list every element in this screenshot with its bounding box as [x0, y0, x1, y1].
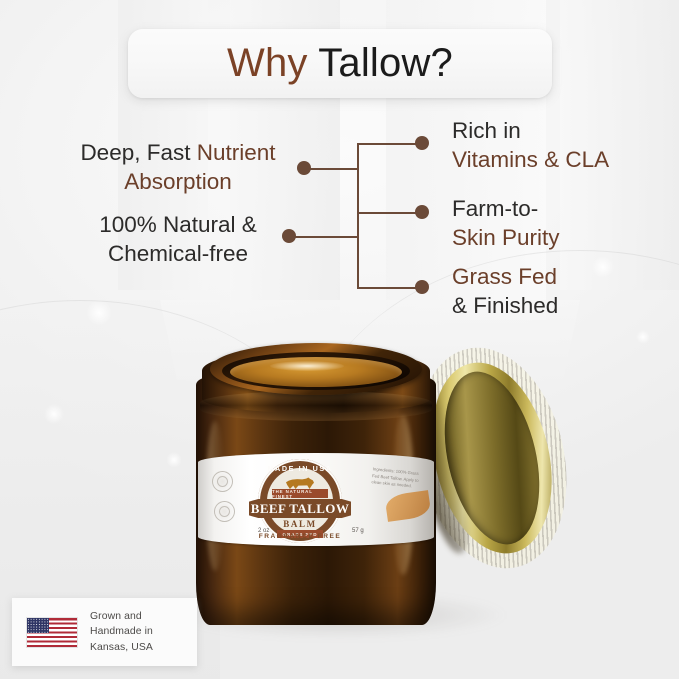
badge-line-3: Kansas, USA — [90, 640, 153, 656]
connector-branch-left-2 — [290, 236, 359, 238]
label-seal-icon — [212, 471, 233, 492]
connector-dot-right-1 — [415, 136, 429, 150]
feature-right-1-line1: Rich in — [452, 118, 521, 143]
badge-line-1: Grown and — [90, 609, 153, 625]
connector-branch-left-1 — [305, 168, 359, 170]
connector-dot-left-1 — [297, 161, 311, 175]
tallow-jar: Ingredients: 100% Grass Fed Beef Tallow.… — [196, 343, 436, 625]
label-weight-oz: 2 oz — [258, 528, 269, 534]
product-label: Ingredients: 100% Grass Fed Beef Tallow.… — [198, 453, 434, 546]
feature-left-1-plain: Deep, Fast — [80, 140, 196, 165]
title-tallow: Tallow? — [318, 41, 453, 85]
feature-left-2: 100% Natural & Chemical-free — [62, 210, 294, 269]
feature-left-1: Deep, Fast Nutrient Absorption — [62, 138, 294, 197]
label-ingredients-text: Ingredients: 100% Grass Fed Beef Tallow.… — [371, 466, 427, 491]
connector-spine — [357, 143, 359, 289]
badge-text: Grown and Handmade in Kansas, USA — [90, 609, 153, 656]
feature-right-2: Farm-to- Skin Purity — [452, 194, 560, 253]
label-swoosh-graphic — [384, 490, 431, 522]
feature-left-1-highlight: Nutrient — [197, 140, 276, 165]
product-infographic: Why Tallow? Deep, Fast Nutrient Absorpti… — [0, 0, 679, 679]
flag-canton — [27, 618, 49, 634]
connector-dot-right-2 — [415, 205, 429, 219]
feature-left-2-line2: Chemical-free — [108, 241, 248, 266]
badge-ribbon: THE NATURAL FINEST — [272, 489, 328, 498]
label-weight-g: 57 g — [352, 528, 364, 534]
connector-dot-right-3 — [415, 280, 429, 294]
feature-right-1: Rich in Vitamins & CLA — [452, 116, 609, 175]
product-name: BEEF TALLOW — [251, 501, 349, 517]
feature-left-2-line1: 100% Natural & — [99, 212, 257, 237]
product-subtitle: BALM — [258, 519, 342, 529]
feature-left-1-line2: Absorption — [124, 169, 232, 194]
made-in-usa-badge: Grown and Handmade in Kansas, USA — [12, 598, 197, 666]
label-seal-icon — [214, 501, 235, 522]
feature-right-3-line2: & Finished — [452, 293, 558, 318]
feature-right-2-line1: Farm-to- — [452, 196, 538, 221]
badge-fragrance-free: FRAGRANCE FREE — [258, 533, 342, 540]
label-badge: MADE IN USA THE NATURAL FINEST BEEF TALL… — [258, 459, 342, 543]
usa-flag-icon — [26, 617, 78, 648]
page-title: Why Tallow? — [227, 41, 453, 86]
feature-right-3: Grass Fed & Finished — [452, 262, 558, 321]
feature-right-1-line2: Vitamins & CLA — [452, 147, 609, 172]
contents-gloss — [270, 361, 344, 371]
connector-dot-left-2 — [282, 229, 296, 243]
title-why: Why — [227, 41, 318, 85]
jar-threads — [200, 391, 432, 421]
feature-right-2-line2: Skin Purity — [452, 225, 560, 250]
badge-banner: BEEF TALLOW — [249, 499, 351, 518]
feature-right-3-line1: Grass Fed — [452, 264, 557, 289]
title-pill: Why Tallow? — [128, 29, 552, 98]
badge-line-2: Handmade in — [90, 624, 153, 640]
badge-made-in-usa: MADE IN USA — [258, 464, 342, 473]
